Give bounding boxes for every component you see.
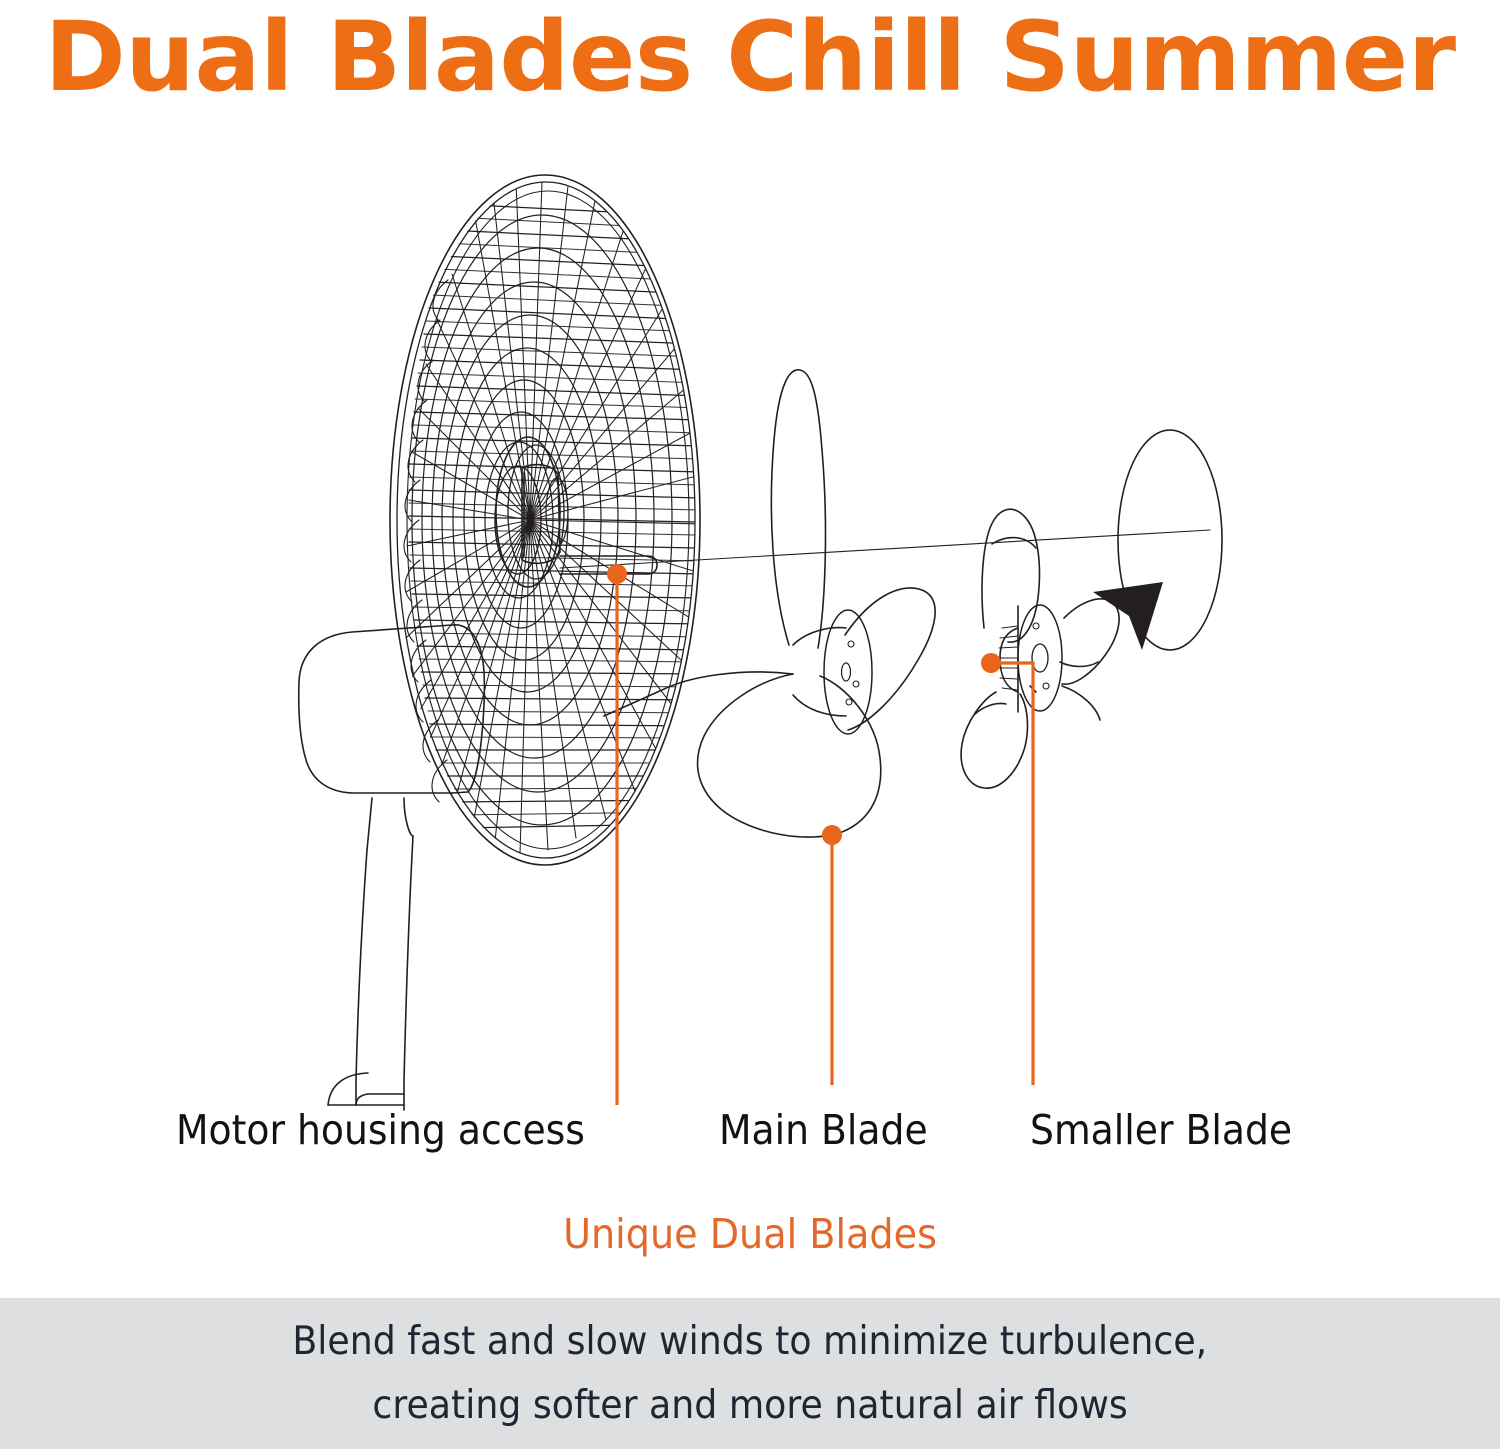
callout-label-motor-housing: Motor housing access	[176, 1104, 585, 1156]
fan-grille-guard	[390, 175, 704, 865]
rotation-arrow-icon	[1093, 582, 1163, 650]
callout-label-smaller-blade: Smaller Blade	[1030, 1104, 1292, 1156]
description-line-2: creating softer and more natural air flo…	[0, 1381, 1500, 1431]
description-line-1-text: Blend fast and slow winds to minimize tu…	[293, 1317, 1208, 1367]
callout-dot-main-blade	[822, 825, 842, 845]
callout-dot-smaller-blade	[981, 653, 1001, 673]
description-panel: Blend fast and slow winds to minimize tu…	[0, 1298, 1500, 1449]
leader-line-smaller-blade	[991, 663, 1033, 1085]
description-line-2-text: creating softer and more natural air flo…	[372, 1381, 1127, 1431]
callout-label-row: Motor housing access Main Blade Smaller …	[0, 1104, 1500, 1164]
smaller-blade-propeller	[961, 509, 1119, 788]
infographic-page: Dual Blades Chill Summer	[0, 0, 1500, 1449]
description-line-1: Blend fast and slow winds to minimize tu…	[0, 1317, 1500, 1367]
fan-exploded-illustration	[0, 120, 1500, 1120]
callout-label-main-blade: Main Blade	[719, 1104, 928, 1156]
callout-dot-motor-housing	[607, 564, 627, 584]
feature-subtitle: Unique Dual Blades	[0, 1208, 1500, 1260]
fan-diagram-svg	[0, 120, 1500, 1120]
fan-pedestal	[328, 836, 413, 1110]
assembly-axis-line	[560, 530, 1210, 568]
callout-leaders	[607, 564, 1033, 1105]
knurled-hub-nut	[999, 605, 1062, 712]
feature-subtitle-text: Unique Dual Blades	[563, 1208, 937, 1260]
page-title: Dual Blades Chill Summer	[0, 2, 1500, 112]
